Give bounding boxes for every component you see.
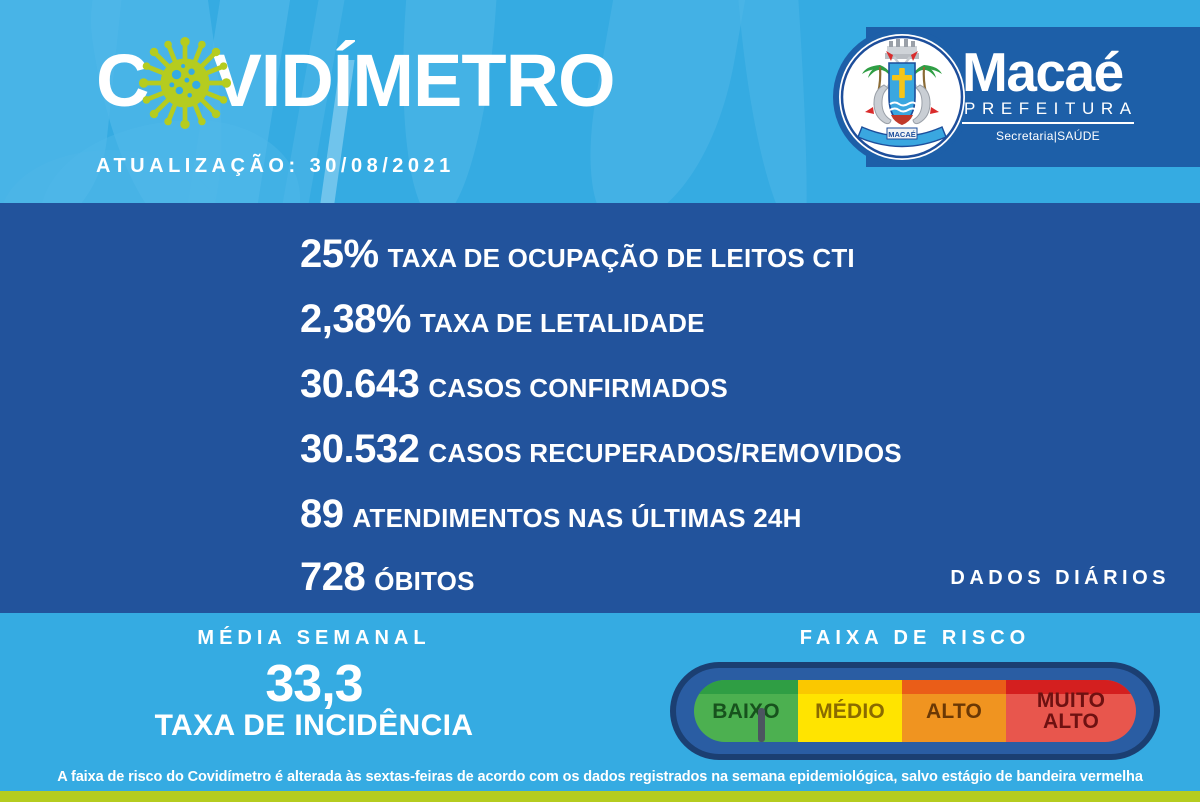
brand-suffix-text: VIDÍMETRO — [212, 44, 614, 118]
stat-row: 30.532 CASOS RECUPERADOS/REMOVIDOS — [300, 429, 902, 473]
macae-coat-of-arms-seal-icon: MACAÉ — [832, 27, 972, 167]
risk-level-block: FAIXA DE RISCO BAIXO MÉDIO ALTO — [630, 613, 1200, 760]
weekly-incidence-value: 33,3 — [8, 657, 620, 711]
risk-segment-cap — [902, 680, 1006, 694]
risk-segment-muito-alto[interactable]: MUITO ALTO — [1006, 680, 1136, 742]
stat-value: 25% — [300, 234, 379, 274]
stat-label: CASOS RECUPERADOS/REMOVIDOS — [428, 433, 901, 473]
covidimetro-poster: C — [0, 0, 1200, 802]
footer-note: A faixa de risco do Covidímetro é altera… — [0, 762, 1200, 791]
coronavirus-icon — [150, 44, 212, 118]
risk-segment-cap — [694, 680, 798, 694]
macae-department-name: Secretaria|SAÚDE — [962, 129, 1134, 143]
coronavirus-icon-glyph — [138, 36, 232, 130]
stat-value: 2,38% — [300, 299, 411, 339]
weekly-average-title: MÉDIA SEMANAL — [8, 627, 620, 650]
risk-segment-label: MÉDIO — [815, 701, 885, 722]
risk-meter: BAIXO MÉDIO ALTO MUITO ALTO — [670, 662, 1160, 760]
risk-segment-label: ALTO — [926, 701, 982, 722]
risk-segment-baixo[interactable]: BAIXO — [694, 680, 798, 742]
stat-row: 25% TAXA DE OCUPAÇÃO DE LEITOS CTI — [300, 234, 855, 278]
stat-label: TAXA DE LETALIDADE — [420, 303, 705, 343]
risk-segment-alto[interactable]: ALTO — [902, 680, 1006, 742]
stat-label: ÓBITOS — [374, 561, 474, 601]
stat-label: TAXA DE OCUPAÇÃO DE LEITOS CTI — [388, 238, 855, 278]
svg-text:MACAÉ: MACAÉ — [888, 130, 916, 139]
macae-org-name: PREFEITURA — [962, 99, 1162, 119]
weekly-incidence-label: TAXA DE INCIDÊNCIA — [8, 709, 620, 743]
macae-divider — [962, 122, 1134, 124]
footer-accent-bar — [0, 791, 1200, 802]
risk-segment-medio[interactable]: MÉDIO — [798, 680, 902, 742]
macae-wordmark: Macaé PREFEITURA Secretaria|SAÚDE — [962, 44, 1162, 143]
daily-stats-section: 25% TAXA DE OCUPAÇÃO DE LEITOS CTI 2,38%… — [0, 203, 1200, 613]
daily-data-label: DADOS DIÁRIOS — [950, 567, 1170, 590]
stat-label: CASOS CONFIRMADOS — [428, 368, 728, 408]
risk-needle-indicator-icon — [758, 708, 765, 742]
stat-value: 89 — [300, 494, 344, 534]
header-banner: C — [0, 0, 1200, 203]
stat-value: 728 — [300, 557, 365, 597]
risk-title: FAIXA DE RISCO — [630, 627, 1200, 650]
stat-row: 728 ÓBITOS — [300, 557, 475, 601]
stat-label: ATENDIMENTOS NAS ÚLTIMAS 24H — [353, 498, 802, 538]
covidimetro-logo: C — [96, 38, 615, 124]
stat-row: 89 ATENDIMENTOS NAS ÚLTIMAS 24H — [300, 494, 802, 538]
stat-row: 2,38% TAXA DE LETALIDADE — [300, 299, 705, 343]
last-update-label: ATUALIZAÇÃO: 30/08/2021 — [96, 155, 455, 178]
stat-value: 30.532 — [300, 429, 419, 469]
stat-row: 30.643 CASOS CONFIRMADOS — [300, 364, 728, 408]
macae-city-name: Macaé — [962, 44, 1162, 101]
risk-segment-label: MUITO ALTO — [1037, 690, 1105, 732]
risk-segment-label: BAIXO — [712, 701, 780, 722]
stat-value: 30.643 — [300, 364, 419, 404]
weekly-average-block: MÉDIA SEMANAL 33,3 TAXA DE INCIDÊNCIA — [0, 613, 620, 743]
risk-segment-cap — [798, 680, 902, 694]
